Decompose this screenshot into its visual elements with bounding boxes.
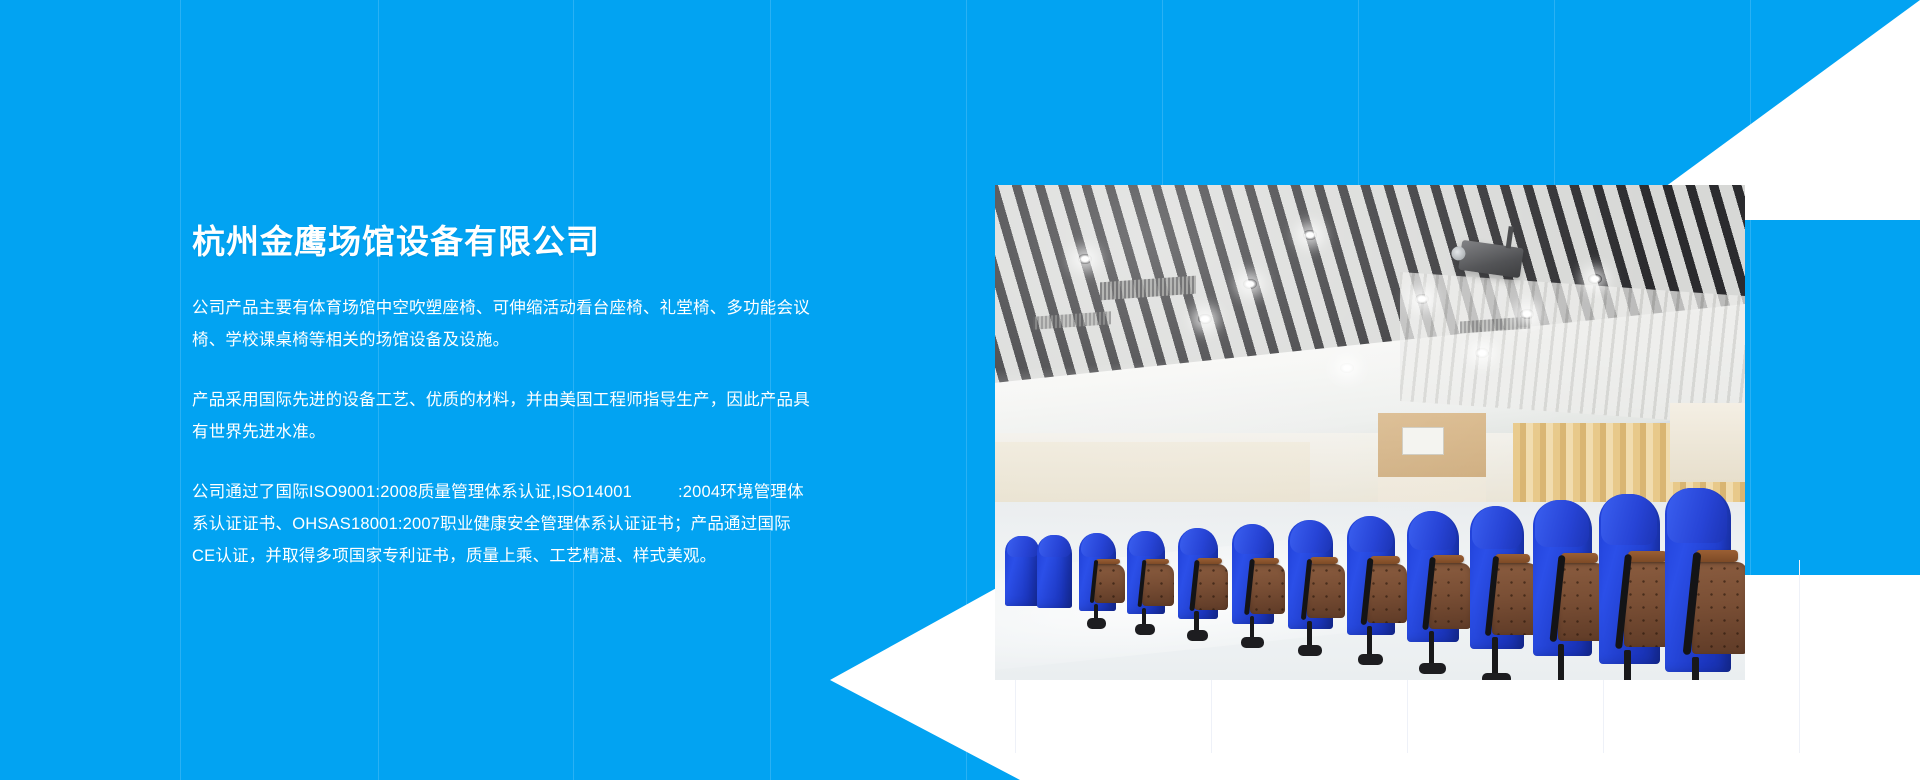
ceiling-light-7	[1588, 274, 1602, 284]
hero-paragraph-products: 公司产品主要有体育场馆中空吹塑座椅、可伸缩活动看台座椅、礼堂椅、多功能会议椅、学…	[192, 292, 812, 356]
ceiling-light-1	[1078, 254, 1092, 264]
hero-text-column: 杭州金鹰场馆设备有限公司 公司产品主要有体育场馆中空吹塑座椅、可伸缩活动看台座椅…	[192, 222, 812, 572]
company-title: 杭州金鹰场馆设备有限公司	[192, 222, 812, 262]
auditorium-photo-canvas	[995, 185, 1745, 680]
wall-panel-right	[1670, 403, 1745, 482]
ceiling-light-4	[1198, 314, 1212, 324]
ceiling-light-5	[1415, 294, 1429, 304]
auditorium-photo	[995, 185, 1745, 680]
ceiling-light-3	[1243, 279, 1257, 289]
hero-paragraph-technology: 产品采用国际先进的设备工艺、优质的材料，并由美国工程师指导生产，因此产品具有世界…	[192, 384, 812, 448]
hero-paragraph-certifications: 公司通过了国际ISO9001:2008质量管理体系认证,ISO14001:200…	[192, 476, 812, 572]
wall-control-plate	[1402, 427, 1444, 455]
hero-banner: 杭州金鹰场馆设备有限公司 公司产品主要有体育场馆中空吹塑座椅、可伸缩活动看台座椅…	[0, 0, 1920, 780]
ceiling-light-6	[1520, 309, 1534, 319]
certification-text-part-one: 公司通过了国际ISO9001:2008质量管理体系认证,ISO14001	[192, 483, 632, 501]
ceiling-light-2	[1303, 230, 1317, 240]
